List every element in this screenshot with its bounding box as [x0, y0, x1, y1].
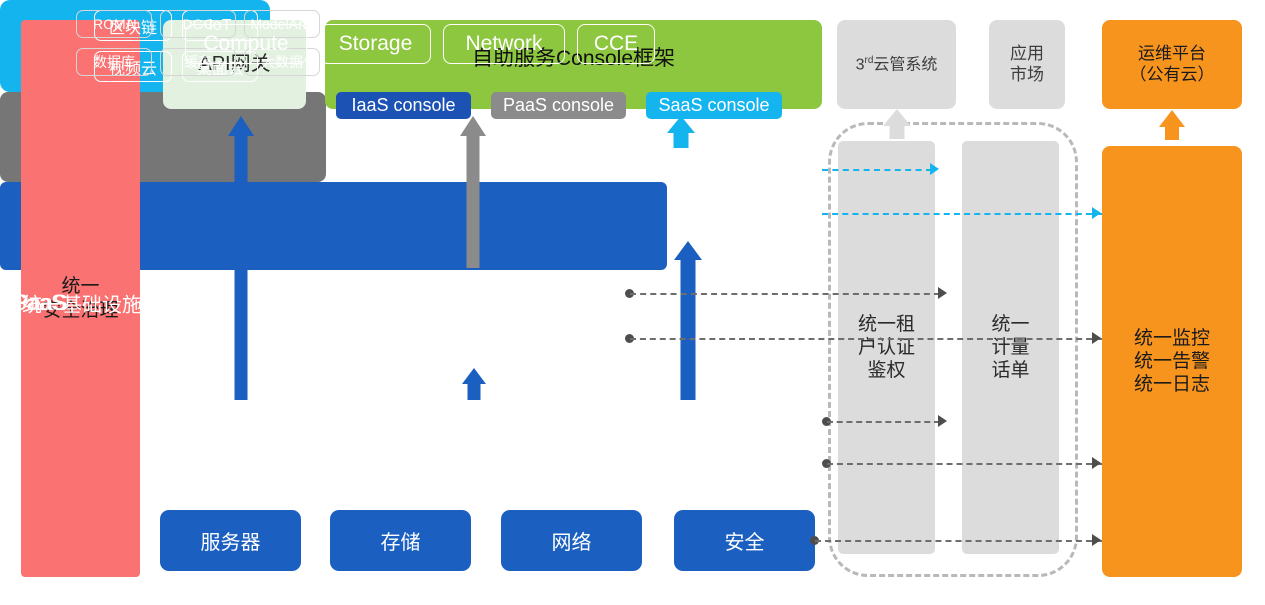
dashed-paas-to-ops: [630, 338, 1102, 340]
dashed-infra-to-auth-head: [938, 415, 947, 427]
dashed-saas-to-auth: [822, 169, 932, 171]
third-party-cloud-mgmt-box[interactable]: 3rd云管系统: [837, 20, 956, 109]
resource-box-security[interactable]: 安全: [674, 510, 815, 571]
arrow-to-third-party-cloud: [884, 109, 910, 139]
unified-metering-label: 统一 计量 话单: [991, 313, 1029, 383]
unified-tenant-auth-column[interactable]: 统一租 户认证 鉴权: [838, 141, 935, 554]
dashed-saas-to-ops: [822, 213, 1102, 215]
unified-monitoring-label: 统一监控 统一告警 统一日志: [1134, 327, 1210, 397]
dashed-resources-to-ops: [815, 540, 1102, 542]
unified-infrastructure-label: 统一基础设施服务: [22, 288, 182, 317]
paas-service-database[interactable]: 数据库: [76, 48, 152, 76]
unified-tenant-auth-label: 统一租 户认证 鉴权: [858, 313, 915, 383]
infra-service-network[interactable]: Network: [443, 24, 565, 64]
arrow-to-ops-platform: [1159, 110, 1185, 140]
infra-service-cce[interactable]: CCE: [577, 24, 655, 64]
iaas-console-chip[interactable]: IaaS console: [336, 92, 471, 119]
infra-service-compute[interactable]: Compute: [185, 24, 307, 64]
dashed-paas-to-ops-head: [1092, 332, 1101, 344]
resource-box-storage[interactable]: 存储: [330, 510, 471, 571]
arrow-infra-to-paas: [461, 368, 487, 400]
unified-metering-column[interactable]: 统一 计量 话单: [962, 141, 1059, 554]
paas-console-chip[interactable]: PaaS console: [491, 92, 626, 119]
dashed-saas-to-auth-head: [930, 163, 939, 175]
resource-box-server[interactable]: 服务器: [160, 510, 301, 571]
paas-service-roma[interactable]: ROMA: [76, 10, 152, 38]
dashed-paas-to-auth: [630, 293, 940, 295]
dashed-infra-to-ops: [827, 463, 1102, 465]
arrow-saas-to-saas-console: [668, 116, 694, 148]
dashed-saas-to-ops-head: [1092, 207, 1101, 219]
dashed-infra-to-ops-head: [1092, 457, 1101, 469]
arrow-infra-to-saas: [674, 241, 702, 400]
unified-monitoring-column[interactable]: 统一监控 统一告警 统一日志: [1102, 146, 1242, 577]
arrow-paas-to-paas-console: [460, 116, 486, 268]
resource-box-network[interactable]: 网络: [501, 510, 642, 571]
ops-platform-label: 运维平台 （公有云）: [1130, 44, 1215, 85]
ops-platform-box[interactable]: 运维平台 （公有云）: [1102, 20, 1242, 109]
infra-service-storage[interactable]: Storage: [320, 24, 431, 64]
third-party-cloud-mgmt-label: 3rd云管系统: [856, 55, 938, 75]
dashed-resources-to-ops-head: [1092, 534, 1101, 546]
arrow-infra-to-api-gateway: [228, 116, 254, 400]
app-market-label: 应用 市场: [1010, 44, 1044, 85]
dashed-infra-to-auth: [827, 421, 940, 423]
dashed-paas-to-auth-head: [938, 287, 947, 299]
saas-console-chip[interactable]: SaaS console: [646, 92, 782, 119]
app-market-box[interactable]: 应用 市场: [989, 20, 1065, 109]
architecture-diagram: 统一 安全治理 API网关 自助服务Console框架 IaaS console…: [0, 0, 1265, 605]
